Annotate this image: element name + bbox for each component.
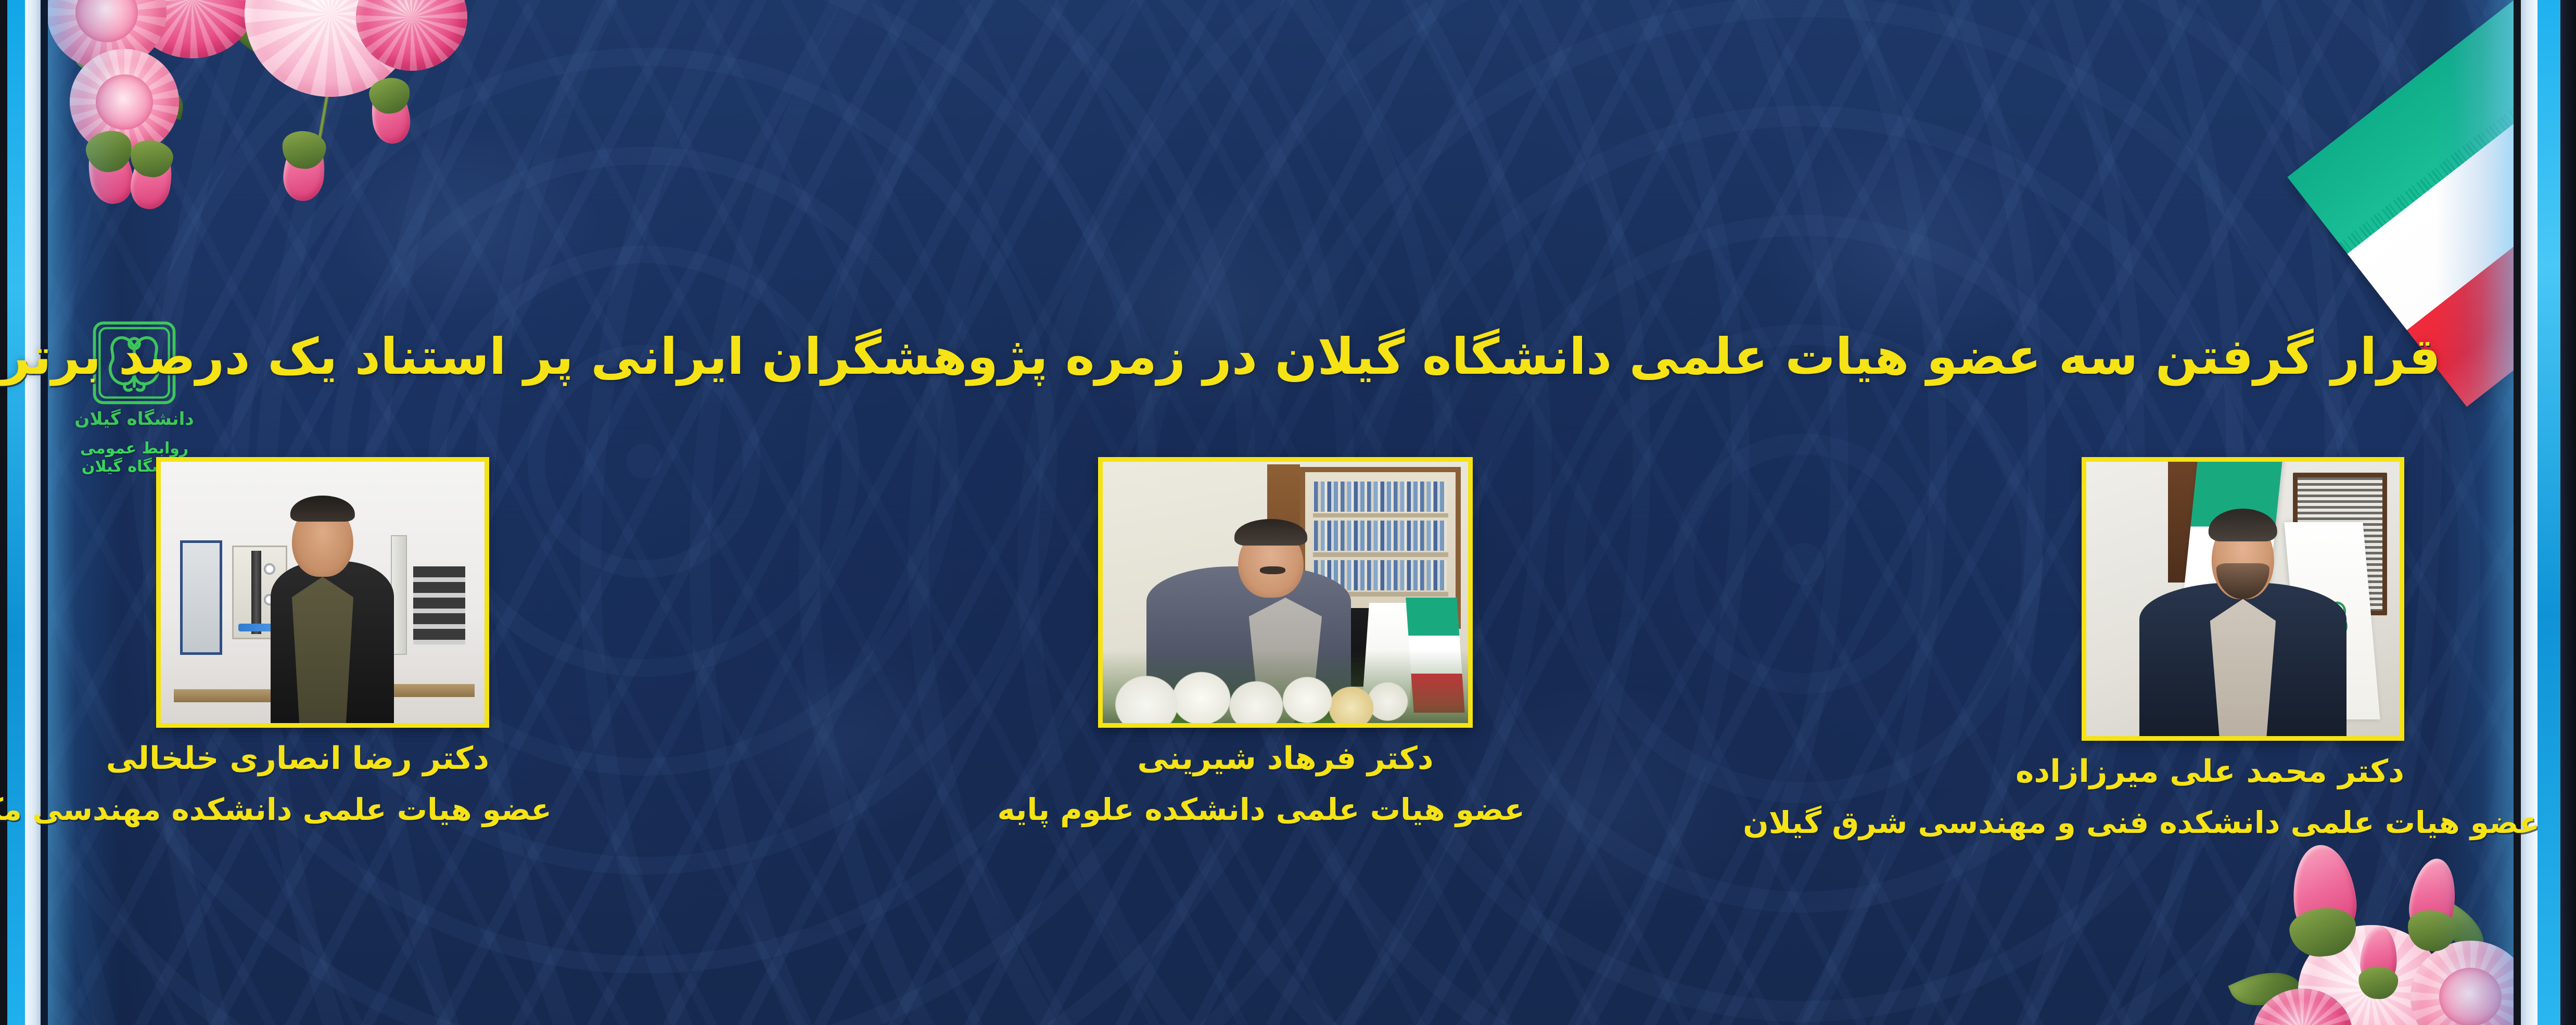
border-stripe-black xyxy=(0,0,7,1025)
researcher-photo-frame xyxy=(1098,457,1473,728)
headline-block: قرار گرفتن سه عضو هیات علمی دانشگاه گیلا… xyxy=(364,329,2441,385)
researcher-card-row: دکتر محمد علی میرزازاده عضو هیات علمی دا… xyxy=(156,457,2404,749)
researcher-role: عضو هیات علمی دانشکده فنی و مهندسی شرق گ… xyxy=(2082,806,2540,840)
researcher-name: دکتر محمد علی میرزازاده xyxy=(2082,754,2404,789)
researcher-photo-frame xyxy=(156,457,489,728)
border-stripe-cyan xyxy=(7,0,25,1025)
researcher-card: دکتر فرهاد شیرینی عضو هیات علمی دانشکده … xyxy=(1098,457,1473,827)
border-stripe-white xyxy=(2521,0,2537,1025)
researcher-role: عضو هیات علمی دانشکده مهندسی مکانیک xyxy=(156,793,552,827)
portrait-photo-ansari xyxy=(161,462,484,723)
banner-root: دانشگاه گیلان روابط عمومی دانشگاه گیلان … xyxy=(0,0,2576,1025)
researcher-caption: دکتر فرهاد شیرینی عضو هیات علمی دانشکده … xyxy=(1098,741,1473,827)
border-stripe-dark xyxy=(2514,0,2521,1025)
researcher-photo-frame xyxy=(2082,457,2404,741)
researcher-name: دکتر فرهاد شیرینی xyxy=(1098,741,1473,776)
border-stripe-black xyxy=(2560,0,2576,1025)
researcher-caption: دکتر محمد علی میرزازاده عضو هیات علمی دا… xyxy=(2082,754,2404,840)
researcher-card: دکتر رضا انصاری خلخالی عضو هیات علمی دان… xyxy=(156,457,489,827)
headline-text: قرار گرفتن سه عضو هیات علمی دانشگاه گیلا… xyxy=(364,329,2441,385)
logo-script-label: دانشگاه گیلان xyxy=(56,410,212,428)
portrait-photo-mirzazadeh xyxy=(2086,462,2400,736)
right-border-stripes xyxy=(2514,0,2576,1025)
right-glow-band xyxy=(2435,0,2514,1025)
left-glow-band xyxy=(48,0,121,1025)
researcher-role: عضو هیات علمی دانشکده علوم پایه xyxy=(1098,793,1525,827)
border-stripe-dark xyxy=(41,0,48,1025)
left-border-stripes xyxy=(0,0,48,1025)
researcher-card: دکتر محمد علی میرزازاده عضو هیات علمی دا… xyxy=(2082,457,2404,840)
border-stripe-white xyxy=(25,0,41,1025)
portrait-photo-shirini xyxy=(1103,462,1468,723)
researcher-caption: دکتر رضا انصاری خلخالی عضو هیات علمی دان… xyxy=(156,741,489,827)
flower-bouquet-in-photo xyxy=(1103,650,1468,723)
border-stripe-cyan xyxy=(2537,0,2560,1025)
researcher-name: دکتر رضا انصاری خلخالی xyxy=(156,741,489,776)
